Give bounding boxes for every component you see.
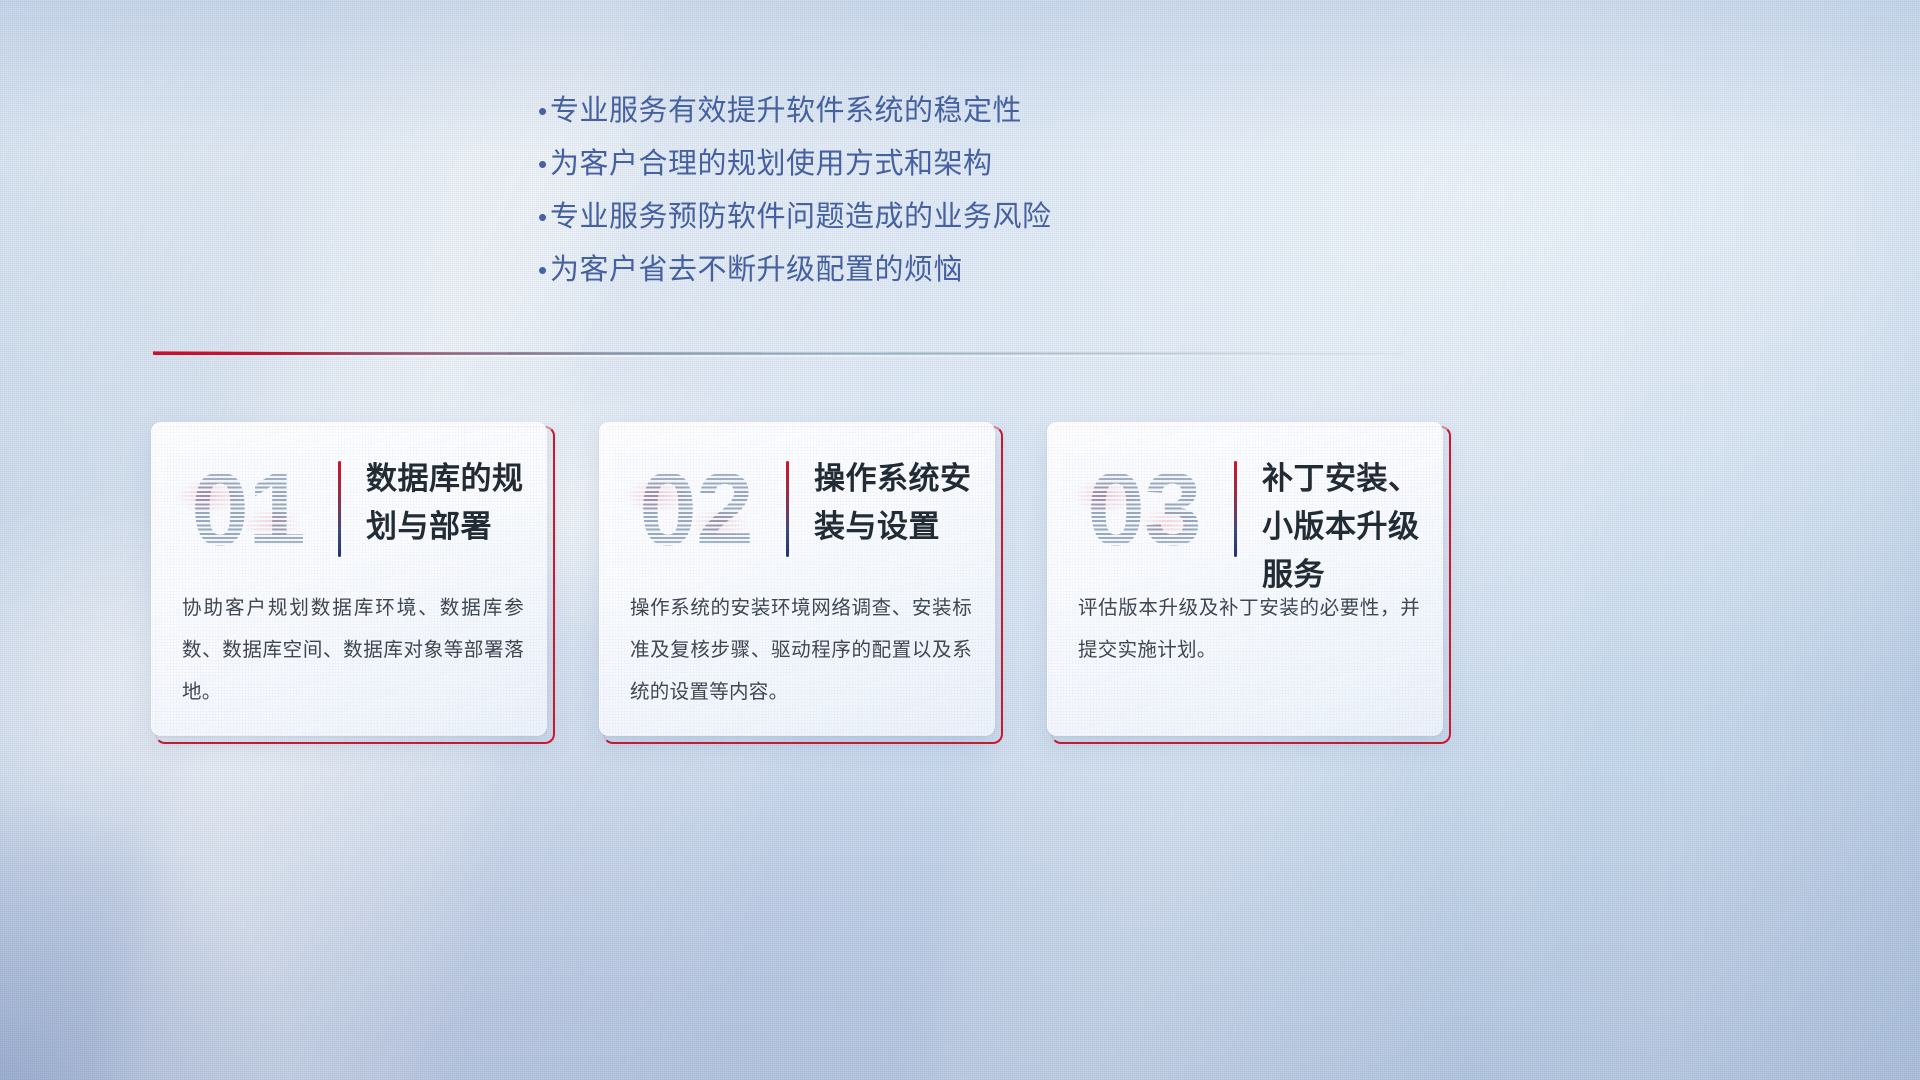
card-surface: 02 操作系统安装与设置 操作系统的安装环境网络调查、安装标准及复核步骤、驱动程… [599,422,995,736]
card-title: 补丁安装、小版本升级服务 [1262,455,1442,599]
list-item-label: 为客户合理的规划使用方式和架构 [550,139,993,189]
card-number-watermark: 03 [1062,453,1226,567]
card-title-accent-bar [338,461,341,557]
service-card-03[interactable]: 03 补丁安装、小版本升级服务 评估版本升级及补丁安装的必要性，并提交实施计划。 [1047,422,1447,740]
card-header: 01 数据库的规划与部署 [152,447,547,569]
section-divider [153,348,1403,362]
card-title-accent-bar [1234,461,1237,557]
list-item-label: 专业服务预防软件问题造成的业务风险 [550,192,1052,242]
service-card-01[interactable]: 01 数据库的规划与部署 协助客户规划数据库环境、数据库参数、数据库空间、数据库… [151,422,551,740]
card-number-watermark: 01 [166,453,330,567]
service-card-group: 01 数据库的规划与部署 协助客户规划数据库环境、数据库参数、数据库空间、数据库… [151,422,1447,740]
card-number-watermark: 02 [614,453,778,567]
list-item: • 为客户合理的规划使用方式和架构 [520,139,1380,192]
card-surface: 03 补丁安装、小版本升级服务 评估版本升级及补丁安装的必要性，并提交实施计划。 [1047,422,1443,736]
list-item: • 专业服务预防软件问题造成的业务风险 [520,192,1380,245]
card-number-scanline-mask [1062,453,1226,567]
bullet-marker-icon: • [520,245,550,295]
card-description: 操作系统的安装环境网络调查、安装标准及复核步骤、驱动程序的配置以及系统的设置等内… [630,587,972,713]
card-title-accent-bar [786,461,789,557]
card-description: 评估版本升级及补丁安装的必要性，并提交实施计划。 [1078,587,1420,671]
benefits-bullet-list: • 专业服务有效提升软件系统的稳定性 • 为客户合理的规划使用方式和架构 • 专… [520,86,1380,298]
bullet-marker-icon: • [520,139,550,189]
card-header: 03 补丁安装、小版本升级服务 [1048,447,1443,569]
list-item-label: 为客户省去不断升级配置的烦恼 [550,245,963,295]
list-item-label: 专业服务有效提升软件系统的稳定性 [550,86,1022,136]
card-header: 02 操作系统安装与设置 [600,447,995,569]
list-item: • 专业服务有效提升软件系统的稳定性 [520,86,1380,139]
service-card-02[interactable]: 02 操作系统安装与设置 操作系统的安装环境网络调查、安装标准及复核步骤、驱动程… [599,422,999,740]
card-number-scanline-mask [166,453,330,567]
card-number-scanline-mask [614,453,778,567]
card-title: 操作系统安装与设置 [814,455,994,551]
divider-highlight [153,355,1403,357]
card-description: 协助客户规划数据库环境、数据库参数、数据库空间、数据库对象等部署落地。 [182,587,524,713]
bullet-marker-icon: • [520,192,550,242]
bullet-marker-icon: • [520,86,550,136]
card-title: 数据库的规划与部署 [366,455,546,551]
list-item: • 为客户省去不断升级配置的烦恼 [520,245,1380,298]
card-surface: 01 数据库的规划与部署 协助客户规划数据库环境、数据库参数、数据库空间、数据库… [151,422,547,736]
